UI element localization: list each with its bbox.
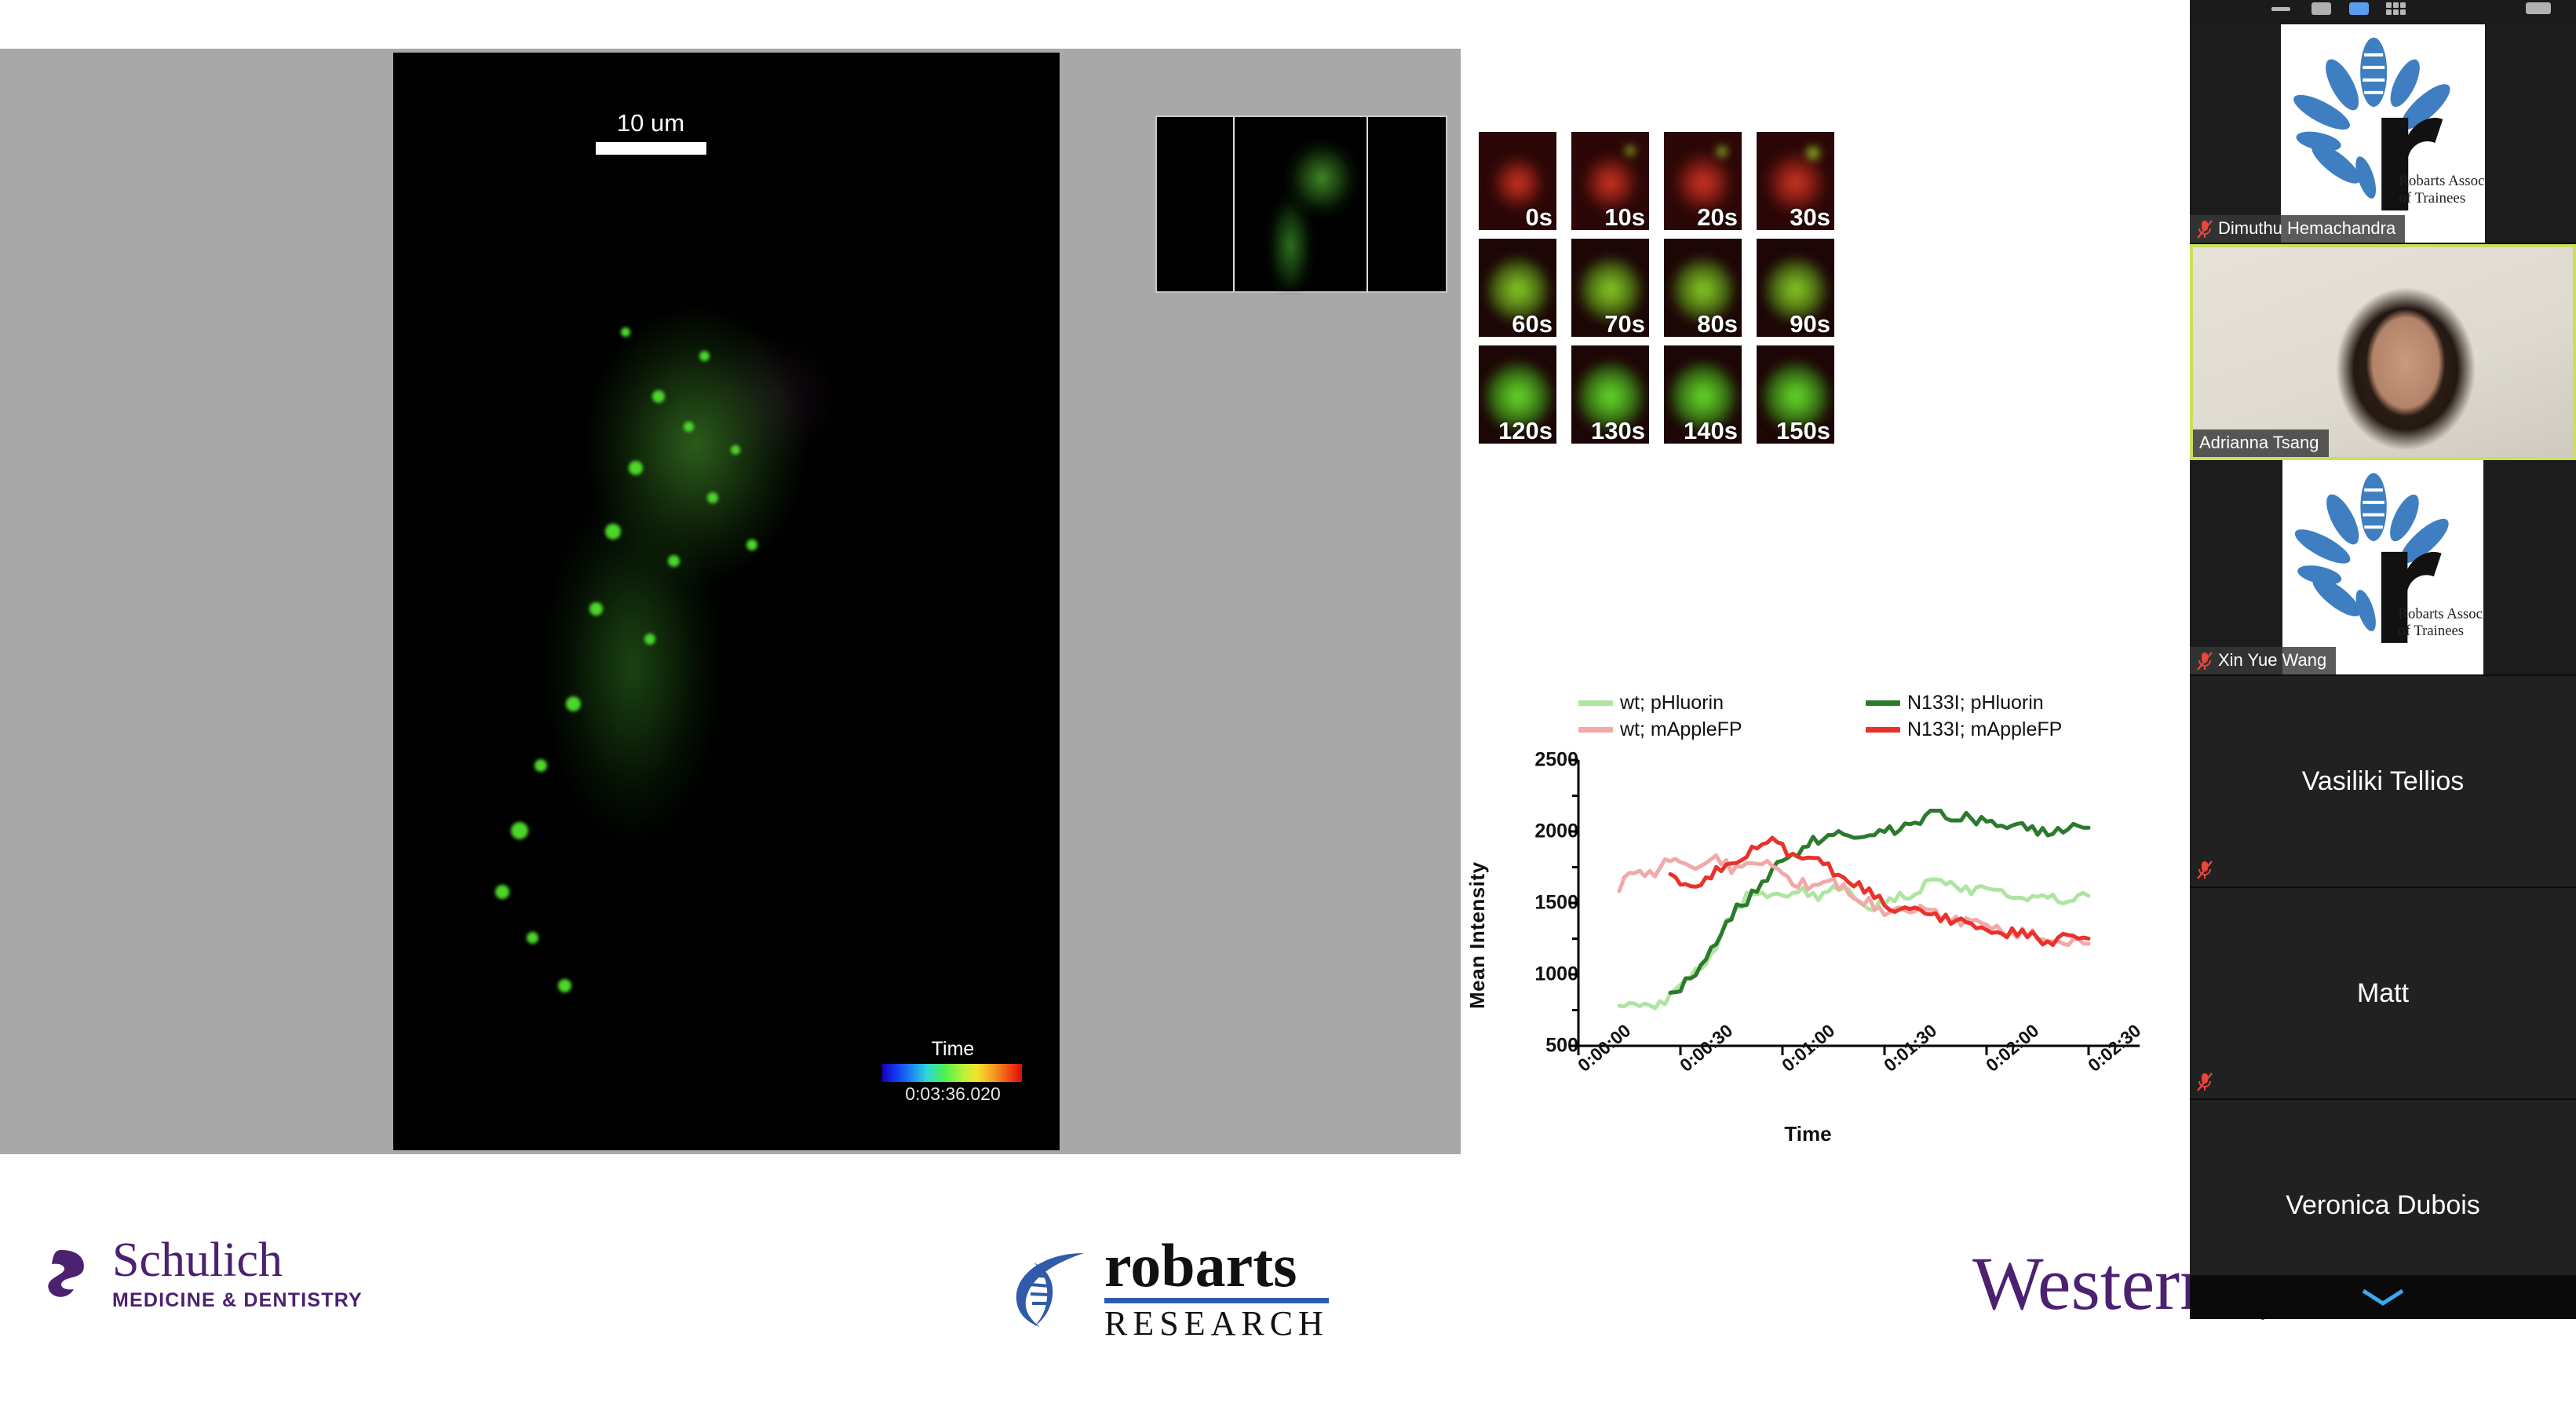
montage-frame: 60s [1479, 239, 1556, 337]
participant-name: Matt [2357, 978, 2409, 1009]
time-legend-title: Time [882, 1038, 1023, 1061]
zoom-window-toolbar [2190, 0, 2576, 24]
montage-frame: 0s [1479, 132, 1556, 230]
participant-name: Dimuthu Hemachandra [2218, 218, 2395, 239]
robarts-logo: robarts RESEARCH [1009, 1237, 1329, 1341]
montage-row: 60s70s80s90s [1479, 239, 1834, 337]
inset-cell [1250, 128, 1391, 293]
montage-frame: 140s [1664, 345, 1742, 444]
x-tick-label: 0:02:30 [2084, 1020, 2145, 1076]
montage-frame: 130s [1571, 345, 1649, 444]
montage-frame: 90s [1757, 239, 1834, 337]
montage-frame-label: 130s [1591, 418, 1645, 443]
montage-frame: 20s [1664, 132, 1742, 230]
robarts-dna-icon [1009, 1245, 1096, 1333]
time-colorbar-legend: Time 0:03:36.020 [882, 1038, 1023, 1105]
crop-line-right [1366, 117, 1368, 291]
microscopy-image: 10 um Time 0:03:36.020 [393, 53, 1060, 1150]
western-name: Western [1972, 1246, 2217, 1321]
orthogonal-view-inset [1155, 115, 1447, 293]
participant-name: Xin Yue Wang [2218, 650, 2326, 671]
robarts-association-of-trainees-logo: Robarts Associationof Trainees [2281, 24, 2485, 243]
cell-fluorescence [436, 257, 923, 838]
intensity-chart: wt; pHluorinN133I; pHluorinwt; mAppleFPN… [1461, 691, 2155, 1154]
crop-line-left [1233, 117, 1235, 291]
scale-bar-label: 10 um [596, 109, 706, 137]
schulich-logo: Schulich MEDICINE & DENTISTRY [17, 1233, 363, 1315]
montage-frame-label: 140s [1684, 418, 1738, 443]
montage-frame: 120s [1479, 345, 1556, 444]
timelapse-montage: 0s10s20s30s60s70s80s90s120s130s140s150s [1479, 132, 1834, 452]
x-tick-label: 0:01:30 [1880, 1020, 1941, 1076]
mic-muted-icon [2196, 651, 2212, 670]
participant-name-badge: Xin Yue Wang [2190, 647, 2336, 674]
screen-root: 10 um Time 0:03:36.020 0s10s20s30s60s70s… [0, 0, 2576, 1418]
chevron-down-icon [2357, 1286, 2409, 1308]
zoom-participant-sidebar: Robarts Associationof TraineesDimuthu He… [2190, 0, 2576, 1319]
svg-text:Robarts Association: Robarts Association [2399, 173, 2485, 189]
participant-tile[interactable]: Adrianna Tsang [2190, 244, 2576, 460]
participant-tile[interactable]: Vasiliki Tellios [2190, 676, 2576, 888]
robarts-wordmark: robarts RESEARCH [1104, 1237, 1329, 1341]
grid-view-icon[interactable] [2386, 2, 2408, 16]
participant-name: Vasiliki Tellios [2302, 766, 2465, 797]
robarts-subtitle: RESEARCH [1104, 1307, 1329, 1341]
montage-frame-label: 120s [1498, 418, 1553, 443]
exit-fullscreen-icon[interactable] [2526, 2, 2551, 14]
participant-tile[interactable]: Robarts Associationof TraineesXin Yue Wa… [2190, 460, 2576, 676]
montage-frame-label: 150s [1776, 418, 1830, 443]
svg-text:of Trainees: of Trainees [2399, 190, 2465, 206]
scale-bar-line [596, 142, 706, 155]
montage-frame: 80s [1664, 239, 1742, 337]
robarts-name: robarts [1104, 1237, 1329, 1295]
scroll-down-chevron[interactable] [2190, 1275, 2576, 1319]
minimize-icon[interactable] [2271, 7, 2290, 11]
plot-area: Mean Intensity 5001000150020002500 0:00:… [1461, 691, 2155, 1154]
mic-muted-icon [2196, 860, 2215, 882]
participant-name-badge: Adrianna Tsang [2193, 429, 2329, 457]
schulich-subtitle: MEDICINE & DENTISTRY [112, 1289, 363, 1312]
montage-frame-label: 60s [1512, 312, 1553, 336]
montage-frame-label: 10s [1604, 205, 1645, 229]
time-colorbar [882, 1064, 1022, 1082]
montage-frame: 70s [1571, 239, 1649, 337]
participant-tile-list: Robarts Associationof TraineesDimuthu He… [2190, 24, 2576, 1312]
robarts-association-of-trainees-logo: Robarts Associationof Trainees [2282, 460, 2483, 675]
schulich-mark-icon [17, 1233, 100, 1315]
x-tick-label: 0:00:00 [1574, 1020, 1635, 1076]
montage-frame-label: 90s [1790, 312, 1830, 336]
montage-row: 0s10s20s30s [1479, 132, 1834, 230]
montage-frame: 10s [1571, 132, 1649, 230]
x-tick-label: 0:00:30 [1676, 1020, 1737, 1076]
svg-text:of Trainees: of Trainees [2399, 623, 2465, 639]
schulich-wordmark: Schulich MEDICINE & DENTISTRY [112, 1236, 363, 1312]
montage-row: 120s130s140s150s [1479, 345, 1834, 444]
x-axis-label: Time [1461, 1122, 2155, 1146]
mic-muted-icon [2196, 219, 2212, 238]
x-tick-label: 0:02:00 [1982, 1020, 2043, 1076]
schulich-name: Schulich [112, 1236, 363, 1285]
montage-frame-label: 0s [1526, 205, 1553, 229]
x-tick-label: 0:01:00 [1778, 1020, 1839, 1076]
x-tick-labels: 0:00:000:00:300:01:000:01:300:02:000:02:… [1461, 691, 2155, 1154]
participant-video-feed [2193, 247, 2573, 457]
montage-frame-label: 20s [1697, 205, 1738, 229]
gallery-view-icon[interactable] [2349, 2, 2369, 15]
montage-frame-label: 30s [1790, 205, 1830, 229]
scale-bar: 10 um [596, 109, 706, 155]
mic-muted-icon [2196, 1072, 2215, 1094]
montage-frame: 30s [1757, 132, 1834, 230]
participant-name: Adrianna Tsang [2199, 433, 2319, 453]
participant-name: Veronica Dubois [2286, 1190, 2480, 1221]
montage-frame-label: 70s [1604, 312, 1645, 336]
participant-tile[interactable]: Matt [2190, 888, 2576, 1100]
timestamp: 0:03:36.020 [882, 1084, 1023, 1105]
participant-name-badge: Dimuthu Hemachandra [2190, 215, 2405, 243]
participant-tile[interactable]: Robarts Associationof TraineesDimuthu He… [2190, 24, 2576, 244]
montage-frame-label: 80s [1697, 312, 1738, 336]
svg-text:Robarts Association: Robarts Association [2399, 605, 2483, 622]
speaker-view-icon[interactable] [2311, 2, 2331, 15]
montage-frame: 150s [1757, 345, 1834, 444]
